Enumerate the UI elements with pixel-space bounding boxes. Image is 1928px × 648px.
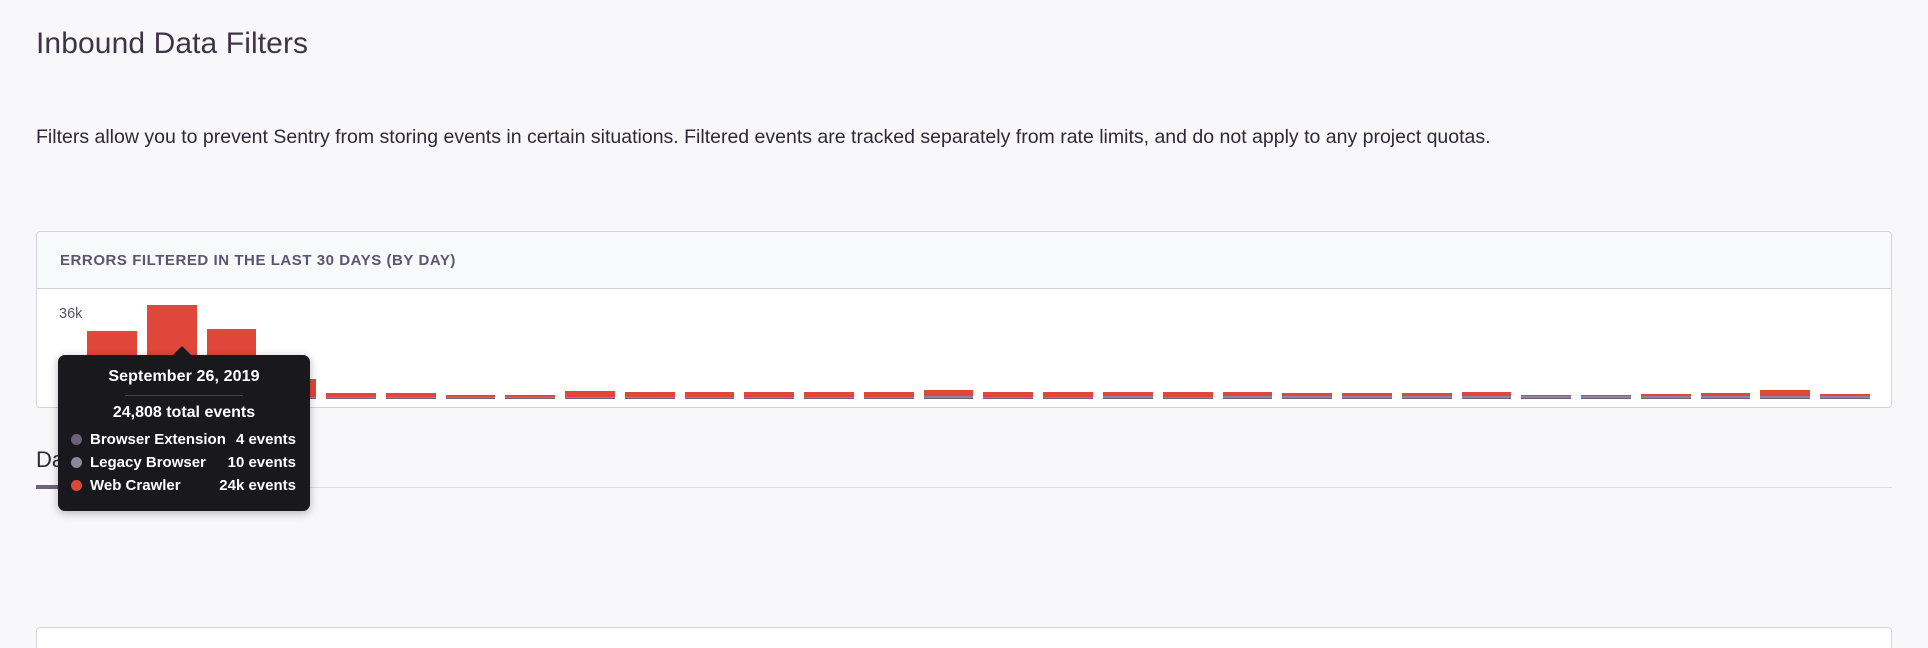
panel-header: ERRORS FILTERED IN THE LAST 30 DAYS (BY … xyxy=(37,232,1891,289)
bar-segment xyxy=(386,398,436,399)
chart-bar[interactable] xyxy=(799,301,859,399)
bar-segment xyxy=(1163,398,1213,399)
chart-bar[interactable] xyxy=(1397,301,1457,399)
chart-bar[interactable] xyxy=(859,301,919,399)
bar-segment xyxy=(864,398,914,399)
bar-segment xyxy=(446,398,496,399)
data-filters-panel xyxy=(36,627,1892,648)
chart-bar[interactable] xyxy=(1158,301,1218,399)
bar-segment xyxy=(1701,398,1751,399)
chart-bar[interactable] xyxy=(1098,301,1158,399)
series-color-dot-icon xyxy=(71,457,82,468)
tooltip-arrow-icon xyxy=(172,346,192,356)
bar-segment xyxy=(1641,398,1691,399)
bar-segment xyxy=(505,398,555,399)
chart-bar[interactable] xyxy=(321,301,381,399)
bar-segment xyxy=(326,398,376,399)
bar-segment xyxy=(625,398,675,399)
errors-filtered-bar-chart[interactable]: 36k 0 xyxy=(37,289,1891,407)
tooltip-row: Web Crawler24k events xyxy=(58,474,310,497)
tooltip-series-value: 4 events xyxy=(236,431,296,448)
tooltip-series-list: Browser Extension4 eventsLegacy Browser1… xyxy=(58,428,310,497)
chart-bar[interactable] xyxy=(1277,301,1337,399)
chart-bar[interactable] xyxy=(1038,301,1098,399)
page-description: Filters allow you to prevent Sentry from… xyxy=(36,118,1536,156)
bar-segment xyxy=(1581,398,1631,399)
bar-segment xyxy=(1282,398,1332,399)
bar-segment xyxy=(1223,398,1273,399)
chart-bar[interactable] xyxy=(1696,301,1756,399)
chart-bar[interactable] xyxy=(739,301,799,399)
chart-bar[interactable] xyxy=(560,301,620,399)
tooltip-series-name: Legacy Browser xyxy=(90,454,228,471)
tooltip-series-name: Browser Extension xyxy=(90,431,236,448)
chart-bar[interactable] xyxy=(500,301,560,399)
page-root: Inbound Data Filters Filters allow you t… xyxy=(0,0,1928,648)
bar-segment xyxy=(1043,398,1093,399)
chart-bar[interactable] xyxy=(1457,301,1517,399)
section-divider xyxy=(36,487,1892,488)
bar-segment xyxy=(1820,398,1870,399)
chart-bar[interactable] xyxy=(1337,301,1397,399)
page-title: Inbound Data Filters xyxy=(36,26,308,62)
chart-bar[interactable] xyxy=(620,301,680,399)
tooltip-series-value: 24k events xyxy=(219,477,296,494)
bar-segment xyxy=(1462,398,1512,399)
bar-segment xyxy=(983,398,1033,399)
y-axis-max-label: 36k xyxy=(59,307,82,322)
series-color-dot-icon xyxy=(71,480,82,491)
bar-segment xyxy=(565,398,615,399)
bar-segment xyxy=(1342,398,1392,399)
tooltip-series-name: Web Crawler xyxy=(90,477,219,494)
bar-segment xyxy=(685,398,735,399)
tooltip-row: Legacy Browser10 events xyxy=(58,451,310,474)
panel-body: 36k 0 xyxy=(37,289,1891,407)
chart-bar[interactable] xyxy=(1576,301,1636,399)
series-color-dot-icon xyxy=(71,434,82,445)
tooltip-total-events: 24,808 total events xyxy=(58,404,310,428)
chart-tooltip: September 26, 2019 24,808 total events B… xyxy=(58,355,310,511)
bar-segment xyxy=(1760,398,1810,399)
chart-bar[interactable] xyxy=(1218,301,1278,399)
bar-segment xyxy=(744,398,794,399)
tooltip-divider xyxy=(125,395,243,396)
bar-segment xyxy=(924,398,974,399)
bar-segment xyxy=(1103,398,1153,399)
errors-filtered-panel: ERRORS FILTERED IN THE LAST 30 DAYS (BY … xyxy=(36,231,1892,408)
bar-segment xyxy=(1521,398,1571,399)
tooltip-date: September 26, 2019 xyxy=(58,368,310,395)
chart-bar[interactable] xyxy=(1815,301,1875,399)
tooltip-series-value: 10 events xyxy=(228,454,296,471)
bar-segment xyxy=(1402,398,1452,399)
chart-bar[interactable] xyxy=(1516,301,1576,399)
chart-bar[interactable] xyxy=(441,301,501,399)
chart-bars[interactable] xyxy=(82,301,1875,399)
panel-header-title: ERRORS FILTERED IN THE LAST 30 DAYS (BY … xyxy=(60,252,456,269)
chart-bar[interactable] xyxy=(680,301,740,399)
bar-segment xyxy=(804,398,854,399)
chart-bar[interactable] xyxy=(978,301,1038,399)
chart-bar[interactable] xyxy=(1636,301,1696,399)
tooltip-row: Browser Extension4 events xyxy=(58,428,310,451)
chart-bar[interactable] xyxy=(919,301,979,399)
chart-bar[interactable] xyxy=(381,301,441,399)
chart-bar[interactable] xyxy=(1755,301,1815,399)
